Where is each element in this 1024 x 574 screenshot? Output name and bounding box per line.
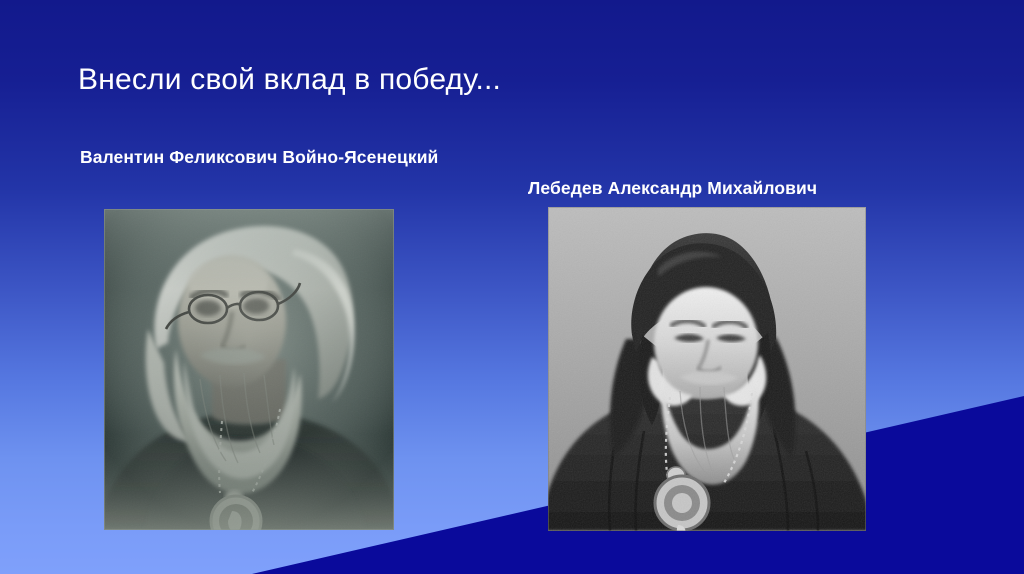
slide: Внесли свой вклад в победу... Валентин Ф… — [0, 0, 1024, 574]
page-title: Внесли свой вклад в победу... — [78, 62, 938, 98]
caption-voyno-yasenetsky: Валентин Феликсович Войно-Ясенецкий — [80, 146, 480, 169]
photo-lebedev — [548, 207, 866, 531]
photo-voyno-yasenetsky — [104, 209, 394, 530]
caption-lebedev: Лебедев Александр Михайлович — [528, 177, 998, 200]
